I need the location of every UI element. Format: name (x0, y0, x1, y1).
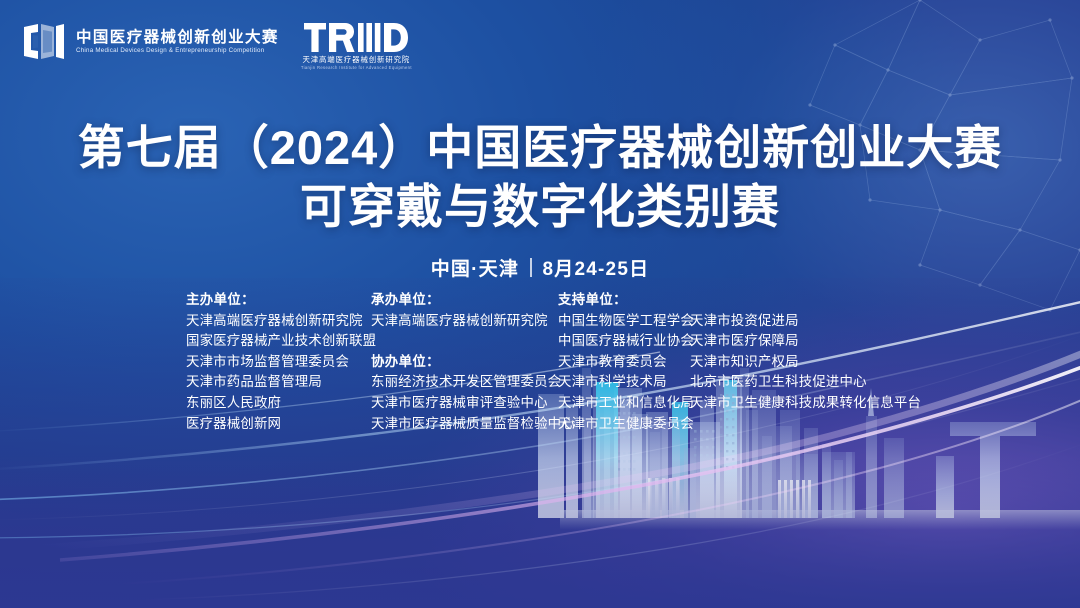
organizer-item: 天津高端医疗器械创新研究院 (371, 311, 558, 332)
host-item: 医疗器械创新网 (186, 414, 371, 435)
triid-logo-en: Tianjin Research Institute for Advanced … (301, 66, 412, 70)
poster-canvas: 中国医疗器械创新创业大赛 China Medical Devices Desig… (0, 0, 1080, 608)
competition-logo-en: China Medical Devices Design & Entrepren… (76, 48, 279, 55)
event-subtitle: 中国·天津 8月24-25日 (0, 254, 1080, 281)
subtitle-divider (530, 258, 532, 277)
host-item: 国家医疗器械产业技术创新联盟 (186, 331, 371, 352)
supporter-item: 中国医疗器械行业协会 (558, 331, 690, 352)
page-title-line2: 可穿戴与数字化类别赛 (0, 177, 1080, 236)
supporter-item: 天津市科学技术局 (558, 372, 690, 393)
host-item: 天津高端医疗器械创新研究院 (186, 311, 371, 332)
supporter-item: 天津市工业和信息化局 (558, 393, 690, 414)
supporter-item: 天津市知识产权局 (690, 352, 905, 373)
supporters-heading: 支持单位： (558, 290, 690, 311)
organizers-column-organizer: 承办单位： 天津高端医疗器械创新研究院 协办单位： 东丽经济技术开发区管理委员会… (371, 290, 558, 434)
supporter-item: 天津市医疗保障局 (690, 331, 905, 352)
co-organizer-item: 天津市医疗器械质量监督检验中心 (371, 414, 558, 435)
co-organizer-item: 天津市医疗器械审评查验中心 (371, 393, 558, 414)
supporters-sublist-left: 支持单位： 中国生物医学工程学会 中国医疗器械行业协会 天津市教育委员会 天津市… (558, 290, 690, 434)
triid-wordmark-icon (304, 23, 408, 53)
host-item: 东丽区人民政府 (186, 393, 371, 414)
event-date: 8月24-25日 (543, 254, 650, 281)
organizers-section: 主办单位： 天津高端医疗器械创新研究院 国家医疗器械产业技术创新联盟 天津市市场… (186, 290, 946, 434)
competition-logo: 中国医疗器械创新创业大赛 China Medical Devices Desig… (22, 22, 279, 62)
organizer-heading: 承办单位： (371, 290, 558, 311)
organizers-column-supporters: 支持单位： 中国生物医学工程学会 中国医疗器械行业协会 天津市教育委员会 天津市… (558, 290, 905, 434)
host-item: 天津市市场监督管理委员会 (186, 352, 371, 373)
supporter-item: 天津市卫生健康科技成果转化信息平台 (690, 393, 905, 414)
supporters-right-spacer (690, 290, 905, 311)
open-book-door-logo-icon (22, 22, 66, 62)
supporters-sublist-right: 天津市投资促进局 天津市医疗保障局 天津市知识产权局 北京市医药卫生科技促进中心… (690, 290, 905, 434)
competition-logo-cn: 中国医疗器械创新创业大赛 (76, 30, 279, 46)
host-item: 天津市药品监督管理局 (186, 372, 371, 393)
supporter-item: 天津市投资促进局 (690, 311, 905, 332)
competition-logo-text: 中国医疗器械创新创业大赛 China Medical Devices Desig… (76, 30, 279, 55)
supporter-item: 天津市卫生健康委员会 (558, 414, 690, 435)
co-organizer-heading: 协办单位： (371, 352, 558, 373)
organizers-column-host: 主办单位： 天津高端医疗器械创新研究院 国家医疗器械产业技术创新联盟 天津市市场… (186, 290, 371, 434)
organizer-spacer (371, 331, 558, 352)
co-organizer-item: 东丽经济技术开发区管理委员会 (371, 372, 558, 393)
title-block: 第七届（2024）中国医疗器械创新创业大赛 可穿戴与数字化类别赛 中国·天津 8… (0, 118, 1080, 281)
host-heading: 主办单位： (186, 290, 371, 311)
header-logos: 中国医疗器械创新创业大赛 China Medical Devices Desig… (22, 22, 412, 71)
page-title-line1: 第七届（2024）中国医疗器械创新创业大赛 (0, 118, 1080, 177)
supporter-item: 天津市教育委员会 (558, 352, 690, 373)
event-location: 中国·天津 (431, 254, 519, 281)
triid-logo-cn: 天津高端医疗器械创新研究院 (302, 56, 410, 63)
triid-institute-logo: 天津高端医疗器械创新研究院 Tianjin Research Institute… (301, 23, 412, 71)
supporter-item: 北京市医药卫生科技促进中心 (690, 372, 905, 393)
supporter-item: 中国生物医学工程学会 (558, 311, 690, 332)
